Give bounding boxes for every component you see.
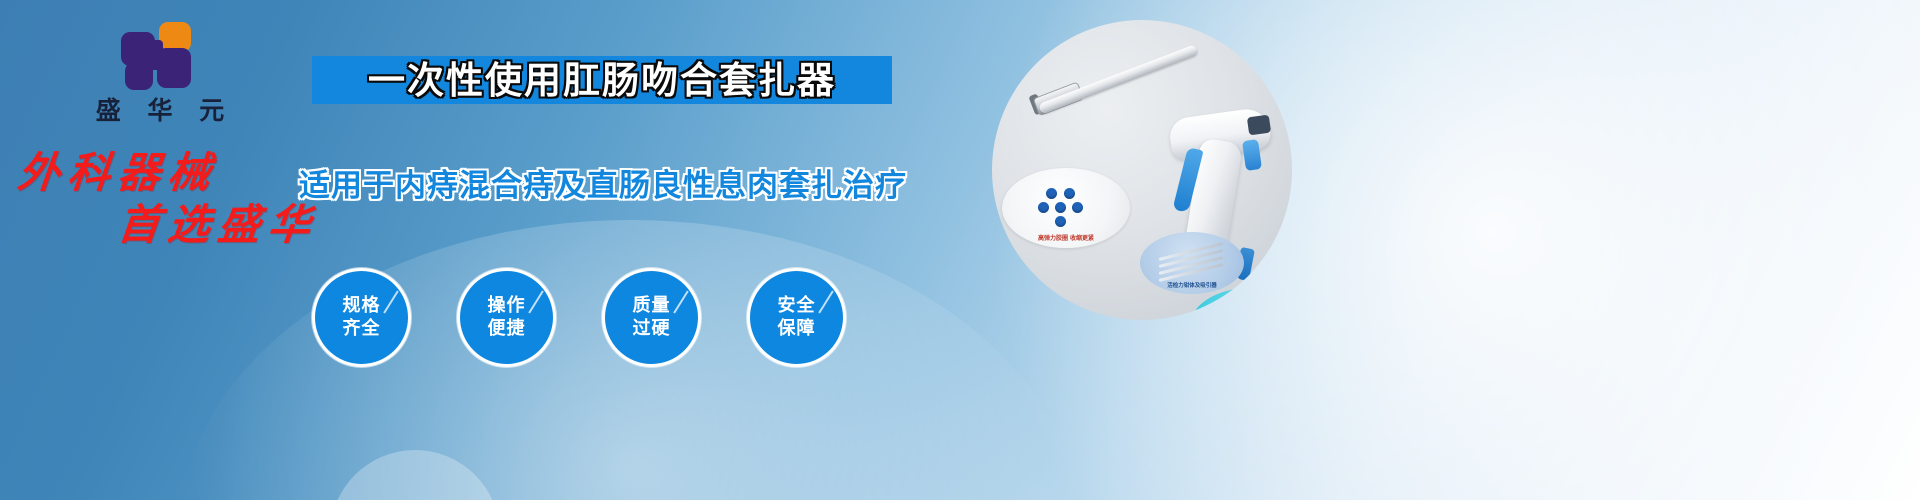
ring-dot [1072,202,1083,213]
device-button-panel-icon [1247,115,1271,136]
rubber-rings-inset: 高弹力胶圈 收缩更紧 [1002,168,1130,248]
slash-decoration-icon [673,290,688,313]
product-photo: 高弹力胶圈 收缩更紧 活检力钳体及吸引器 [992,20,1292,320]
product-promo-banner: 盛 华 元 外科器械 首选盛华 一次性使用肛肠吻合套扎器 适用于内痔混合痔及直肠… [0,0,1920,500]
feature-label-line-2: 过硬 [633,318,671,341]
subtitle: 适用于内痔混合痔及直肠良性息肉套扎治疗 [298,160,908,205]
feature-label-line-1: 操作 [488,295,526,318]
slash-decoration-icon [383,290,398,313]
feature-badge-list: 规格 齐全 操作 便捷 质量 过硬 安全 保障 [312,268,846,367]
ring-dot [1055,216,1066,227]
feature-label-line-1: 安全 [778,295,816,318]
ring-dot [1055,202,1066,213]
feature-badge-operation[interactable]: 操作 便捷 [457,268,556,367]
ring-dot [1064,188,1075,199]
feature-label-line-2: 齐全 [343,318,381,341]
feature-badge-safety[interactable]: 安全 保障 [747,268,846,367]
brand-name: 盛 华 元 [60,98,260,123]
calligraphy-line-2: 首选盛华 [116,204,350,246]
feature-badge-specifications[interactable]: 规格 齐全 [312,268,411,367]
rubber-rings-inset-caption: 高弹力胶圈 收缩更紧 [1002,233,1130,242]
shenghuayuan-blocks-logo-icon [121,22,199,92]
ligation-tools-inset: 活检力钳体及吸引器 [1140,232,1244,294]
feature-label-line-2: 便捷 [488,318,526,341]
page-title: 一次性使用肛肠吻合套扎器 [368,62,836,99]
product-photo-circle: 高弹力胶圈 收缩更紧 活检力钳体及吸引器 [992,20,1292,320]
ring-dot [1046,188,1057,199]
feature-badge-quality[interactable]: 质量 过硬 [602,268,701,367]
logo-block-bottom-left [125,62,153,90]
main-title-bar: 一次性使用肛肠吻合套扎器 [312,56,892,104]
device-barrel [1038,44,1199,114]
feature-label-line-1: 规格 [343,295,381,318]
brand-logo[interactable]: 盛 华 元 [60,22,260,123]
feature-label-line-2: 保障 [778,318,816,341]
slash-decoration-icon [818,290,833,313]
ligation-tools-inset-caption: 活检力钳体及吸引器 [1140,281,1244,289]
decorative-ghost-circle [330,450,500,500]
slash-decoration-icon [528,290,543,313]
logo-block-bottom-right [157,48,191,88]
ring-dot [1038,202,1049,213]
feature-label-line-1: 质量 [633,295,671,318]
